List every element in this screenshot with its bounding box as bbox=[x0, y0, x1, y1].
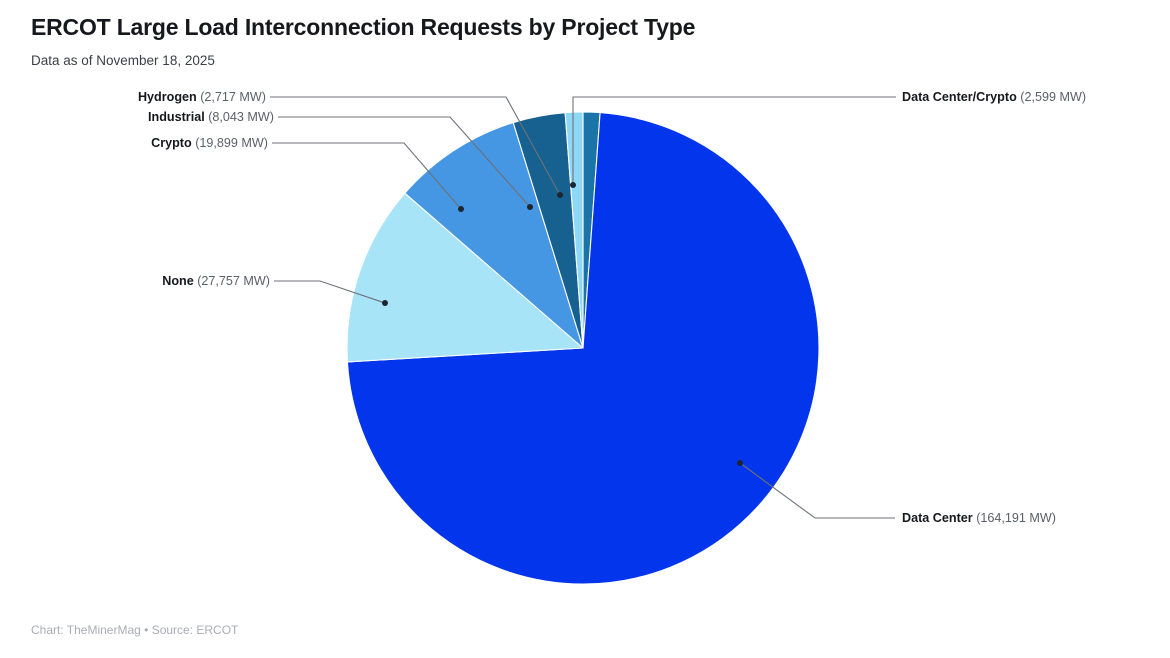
leader-dot-industrial bbox=[527, 204, 533, 210]
pie-label-none: None (27,757 MW) bbox=[0, 275, 270, 288]
pie-label-none-name: None bbox=[162, 274, 193, 288]
pie-label-hydrogen: Hydrogen (2,717 MW) bbox=[0, 91, 266, 104]
pie-label-crypto-name: Crypto bbox=[151, 136, 192, 150]
leader-dot-crypto bbox=[458, 206, 464, 212]
pie-slice-group bbox=[347, 112, 819, 584]
pie-label-data-center-name: Data Center bbox=[902, 511, 973, 525]
pie-label-industrial-name: Industrial bbox=[148, 110, 205, 124]
pie-label-data-center-crypto-name: Data Center/Crypto bbox=[902, 90, 1017, 104]
chart-credit: Chart: TheMinerMag • Source: ERCOT bbox=[31, 623, 238, 637]
chart-container: ERCOT Large Load Interconnection Request… bbox=[0, 0, 1170, 658]
leader-dot-data-center-crypto bbox=[570, 182, 576, 188]
pie-label-industrial: Industrial (8,043 MW) bbox=[0, 111, 274, 124]
leader-dot-hydrogen bbox=[557, 192, 563, 198]
pie-label-hydrogen-name: Hydrogen bbox=[138, 90, 197, 104]
pie-label-data-center: Data Center (164,191 MW) bbox=[902, 512, 1056, 525]
leader-dot-data-center bbox=[737, 460, 743, 466]
pie-label-data-center-crypto: Data Center/Crypto (2,599 MW) bbox=[902, 91, 1086, 104]
pie-label-none-value: (27,757 MW) bbox=[197, 274, 270, 288]
leader-dot-none bbox=[382, 300, 388, 306]
pie-label-data-center-value: (164,191 MW) bbox=[976, 511, 1056, 525]
pie-label-hydrogen-value: (2,717 MW) bbox=[200, 90, 266, 104]
pie-label-crypto: Crypto (19,899 MW) bbox=[0, 137, 268, 150]
pie-label-industrial-value: (8,043 MW) bbox=[208, 110, 274, 124]
pie-label-crypto-value: (19,899 MW) bbox=[195, 136, 268, 150]
pie-label-data-center-crypto-value: (2,599 MW) bbox=[1020, 90, 1086, 104]
